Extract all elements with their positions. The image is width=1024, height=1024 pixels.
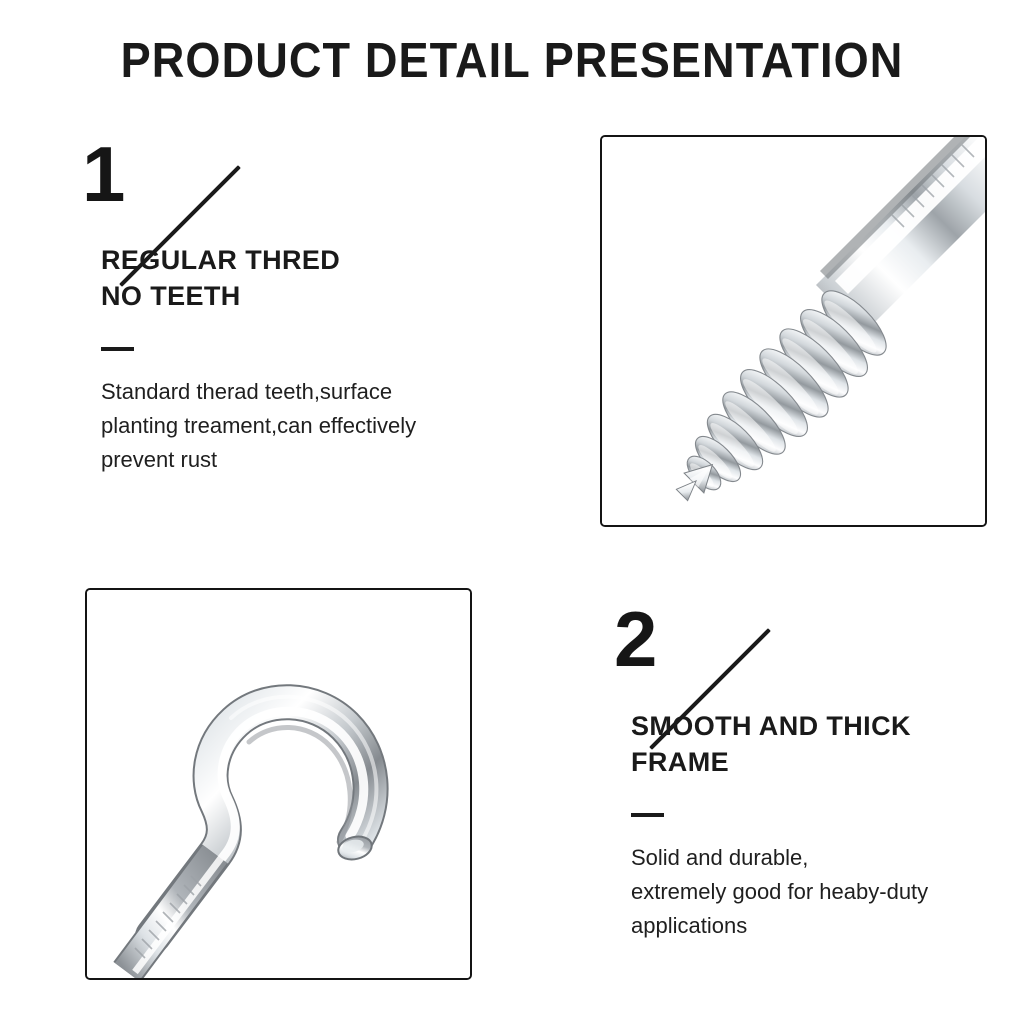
feature-block-1: 1 REGULAR THRED NO TEETH Standard therad…: [60, 135, 530, 255]
page-title: PRODUCT DETAIL PRESENTATION: [41, 33, 983, 89]
feature-2-number-row: 2: [592, 600, 1022, 720]
feature-2-body: Solid and durable, extremely good for he…: [631, 841, 1024, 943]
screw-thread-photo-frame: [600, 135, 987, 527]
cup-hook-photo: [87, 590, 470, 978]
feature-2-divider: [631, 813, 664, 817]
feature-1-divider: [101, 347, 134, 351]
feature-1-heading: REGULAR THRED NO TEETH: [101, 242, 340, 314]
feature-2-number: 2: [614, 600, 656, 678]
feature-1-body: Standard therad teeth,surface planting t…: [101, 375, 501, 477]
feature-block-2: 2 SMOOTH AND THICK FRAME Solid and durab…: [592, 600, 1022, 720]
product-detail-page: PRODUCT DETAIL PRESENTATION 1 REGULAR TH…: [0, 0, 1024, 1024]
feature-1-number: 1: [82, 135, 124, 213]
screw-thread-photo: [602, 137, 985, 525]
cup-hook-photo-frame: [85, 588, 472, 980]
feature-1-number-row: 1: [60, 135, 530, 255]
feature-2-heading: SMOOTH AND THICK FRAME: [631, 708, 911, 780]
